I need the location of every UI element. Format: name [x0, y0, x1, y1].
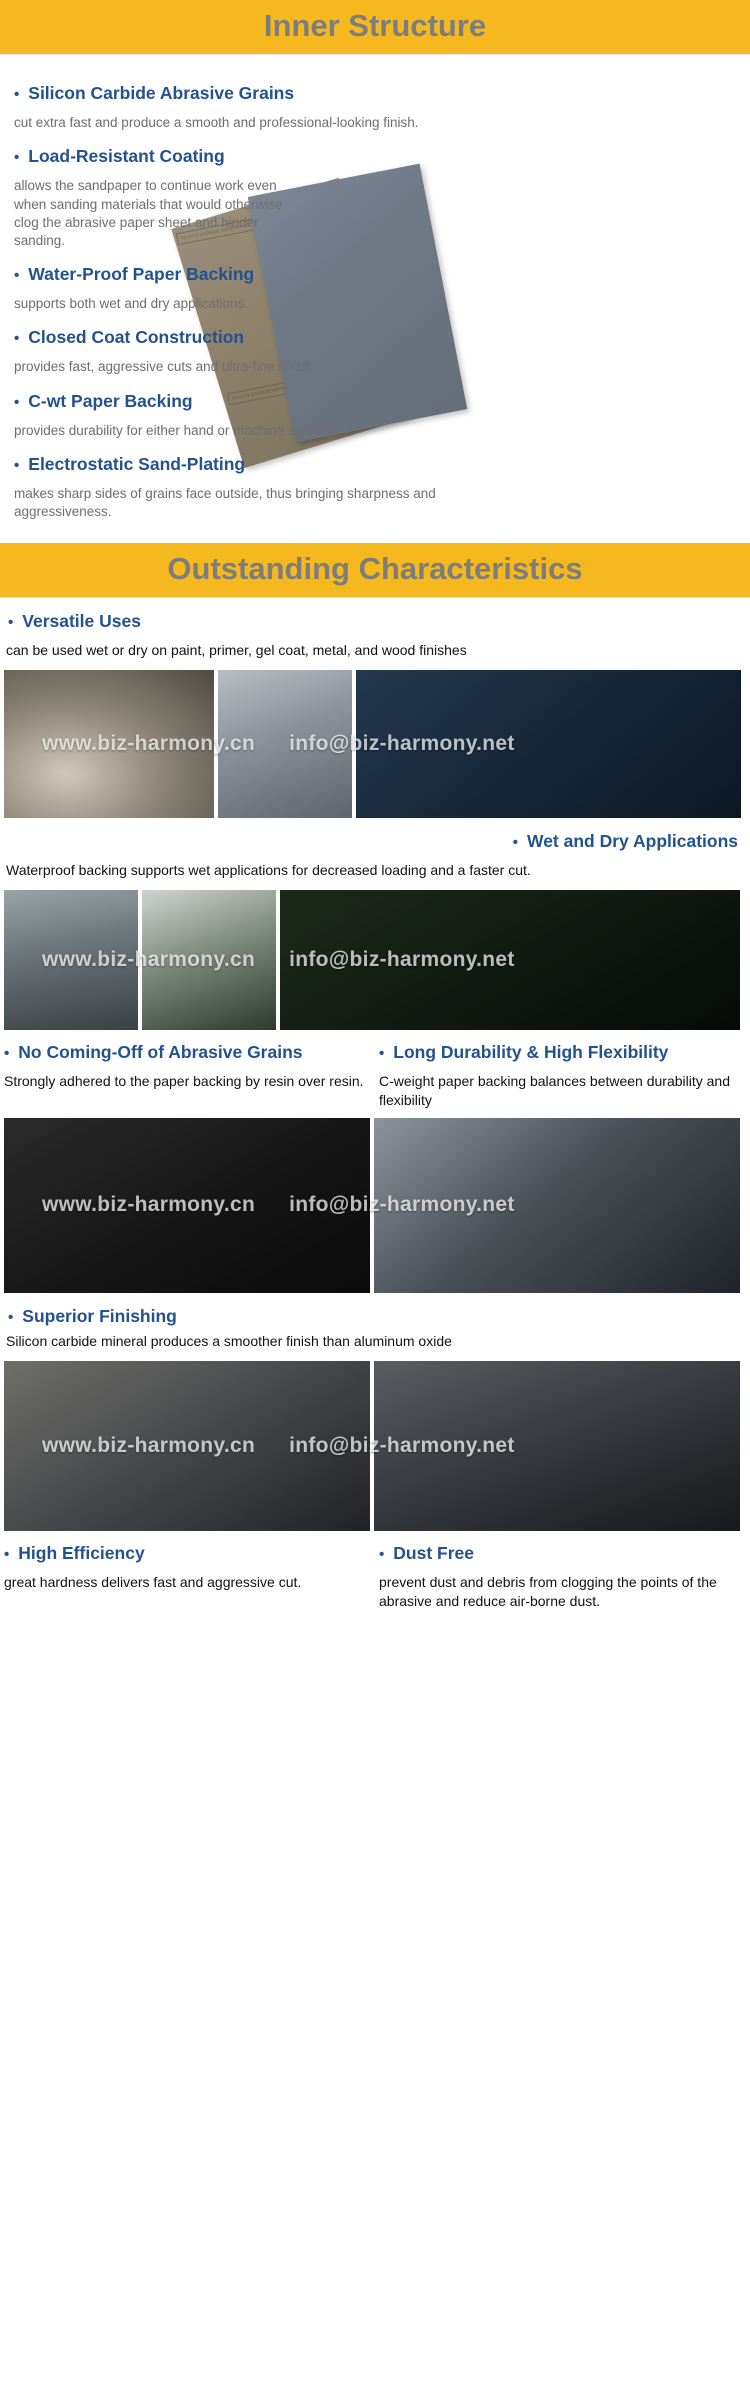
structure-item-heading-1: • Silicon Carbide Abrasive Grains	[0, 83, 750, 104]
feature-row-grains-durability: • No Coming-Off of Abrasive Grains Stron…	[0, 1030, 750, 1118]
feature-label-long-durability: Long Durability & High Flexibility	[393, 1042, 668, 1063]
feature-text-high-efficiency: great hardness delivers fast and aggress…	[4, 1573, 371, 1592]
feature-label-wet-dry: Wet and Dry Applications	[527, 831, 738, 852]
structure-item-label-3: Water-Proof Paper Backing	[28, 264, 254, 285]
feature-heading-long-durability: • Long Durability & High Flexibility	[379, 1042, 746, 1063]
feature-label-no-coming-off: No Coming-Off of Abrasive Grains	[18, 1042, 302, 1063]
feature-heading-versatile-uses: • Versatile Uses	[0, 611, 750, 632]
structure-item-label-2: Load-Resistant Coating	[28, 146, 224, 167]
photo-wet-sanding-block	[356, 670, 741, 818]
feature-heading-no-coming-off: • No Coming-Off of Abrasive Grains	[4, 1042, 371, 1063]
bullet-icon: •	[379, 1547, 384, 1562]
feature-heading-high-efficiency: • High Efficiency	[4, 1543, 371, 1564]
bullet-icon: •	[14, 395, 19, 410]
feature-text-wet-dry: Waterproof backing supports wet applicat…	[0, 861, 750, 880]
structure-item-heading-5: • C-wt Paper Backing	[0, 391, 750, 412]
feature-text-long-durability: C-weight paper backing balances between …	[379, 1072, 746, 1110]
outstanding-characteristics-title: Outstanding Characteristics	[0, 552, 750, 586]
bullet-icon: •	[8, 1310, 13, 1325]
feature-row-efficiency-dust: • High Efficiency great hardness deliver…	[0, 1531, 750, 1619]
feature-col-no-coming-off: • No Coming-Off of Abrasive Grains Stron…	[4, 1030, 371, 1118]
structure-item-label-6: Electrostatic Sand-Plating	[28, 454, 245, 475]
feature-label-versatile-uses: Versatile Uses	[22, 611, 141, 632]
bullet-icon: •	[8, 615, 13, 630]
structure-item-heading-6: • Electrostatic Sand-Plating	[0, 454, 750, 475]
photo-strip-wet-dry: www.biz-harmony.cn info@biz-harmony.net	[0, 890, 750, 1030]
photo-strip-grains-durability: www.biz-harmony.cn info@biz-harmony.net	[0, 1118, 750, 1293]
feature-text-versatile-uses: can be used wet or dry on paint, primer,…	[0, 641, 750, 660]
feature-text-superior-finishing: Silicon carbide mineral produces a smoot…	[0, 1332, 750, 1351]
structure-item-label-1: Silicon Carbide Abrasive Grains	[28, 83, 294, 104]
photo-strip-versatile-uses: www.biz-harmony.cn info@biz-harmony.net	[0, 670, 750, 818]
structure-item-heading-2: • Load-Resistant Coating	[0, 146, 750, 167]
bullet-icon: •	[4, 1547, 9, 1562]
feature-text-no-coming-off: Strongly adhered to the paper backing by…	[4, 1072, 371, 1091]
inner-structure-title: Inner Structure	[0, 9, 750, 43]
bullet-icon: •	[513, 835, 518, 850]
structure-item-label-4: Closed Coat Construction	[28, 327, 244, 348]
structure-item-heading-4: • Closed Coat Construction	[0, 327, 750, 348]
structure-item-text-3: supports both wet and dry applications.	[0, 295, 470, 313]
bullet-icon: •	[4, 1046, 9, 1061]
feature-label-superior-finishing: Superior Finishing	[22, 1306, 177, 1327]
photo-purple-block-sanding-right	[374, 1361, 740, 1531]
photo-factory-worker-mask	[142, 890, 276, 1030]
photo-sanding-bumper	[4, 670, 214, 818]
feature-heading-wet-dry: • Wet and Dry Applications	[0, 831, 750, 852]
feature-heading-superior-finishing: • Superior Finishing	[0, 1306, 750, 1327]
bullet-icon: •	[14, 331, 19, 346]
feature-col-dust-free: • Dust Free prevent dust and debris from…	[379, 1531, 746, 1619]
structure-item-text-4: provides fast, aggressive cuts and ultra…	[0, 358, 470, 376]
structure-item-heading-3: • Water-Proof Paper Backing	[0, 264, 750, 285]
feature-col-long-durability: • Long Durability & High Flexibility C-w…	[379, 1030, 746, 1118]
bullet-icon: •	[14, 268, 19, 283]
bullet-icon: •	[14, 458, 19, 473]
photo-purple-block-sanding-left	[4, 1361, 370, 1531]
feature-text-dust-free: prevent dust and debris from clogging th…	[379, 1573, 746, 1611]
outstanding-characteristics-content: • Versatile Uses can be used wet or dry …	[0, 611, 750, 1622]
photo-gloved-hand-sanding	[280, 890, 740, 1030]
photo-bending-sandpaper	[374, 1118, 740, 1293]
photo-strip-superior-finishing: www.biz-harmony.cn info@biz-harmony.net	[0, 1361, 750, 1531]
structure-item-label-5: C-wt Paper Backing	[28, 391, 192, 412]
photo-factory-worker-inspect	[4, 890, 138, 1030]
structure-item-text-2: allows the sandpaper to continue work ev…	[0, 177, 300, 250]
outstanding-characteristics-banner: Outstanding Characteristics	[0, 543, 750, 598]
bullet-icon: •	[14, 87, 19, 102]
structure-item-text-5: provides durability for either hand or m…	[0, 422, 470, 440]
inner-structure-content: SILICON CARBIDE WATERPROOF ABRASIVE PAPE…	[0, 55, 750, 531]
inner-structure-banner: Inner Structure	[0, 0, 750, 55]
bullet-icon: •	[14, 150, 19, 165]
feature-col-high-efficiency: • High Efficiency great hardness deliver…	[4, 1531, 371, 1619]
structure-item-text-6: makes sharp sides of grains face outside…	[0, 485, 500, 521]
structure-item-text-1: cut extra fast and produce a smooth and …	[0, 114, 470, 132]
photo-finger-rub-abrasive	[4, 1118, 370, 1293]
feature-heading-dust-free: • Dust Free	[379, 1543, 746, 1564]
feature-label-high-efficiency: High Efficiency	[18, 1543, 144, 1564]
bullet-icon: •	[379, 1046, 384, 1061]
photo-hand-sanding-panel	[218, 670, 352, 818]
feature-label-dust-free: Dust Free	[393, 1543, 474, 1564]
